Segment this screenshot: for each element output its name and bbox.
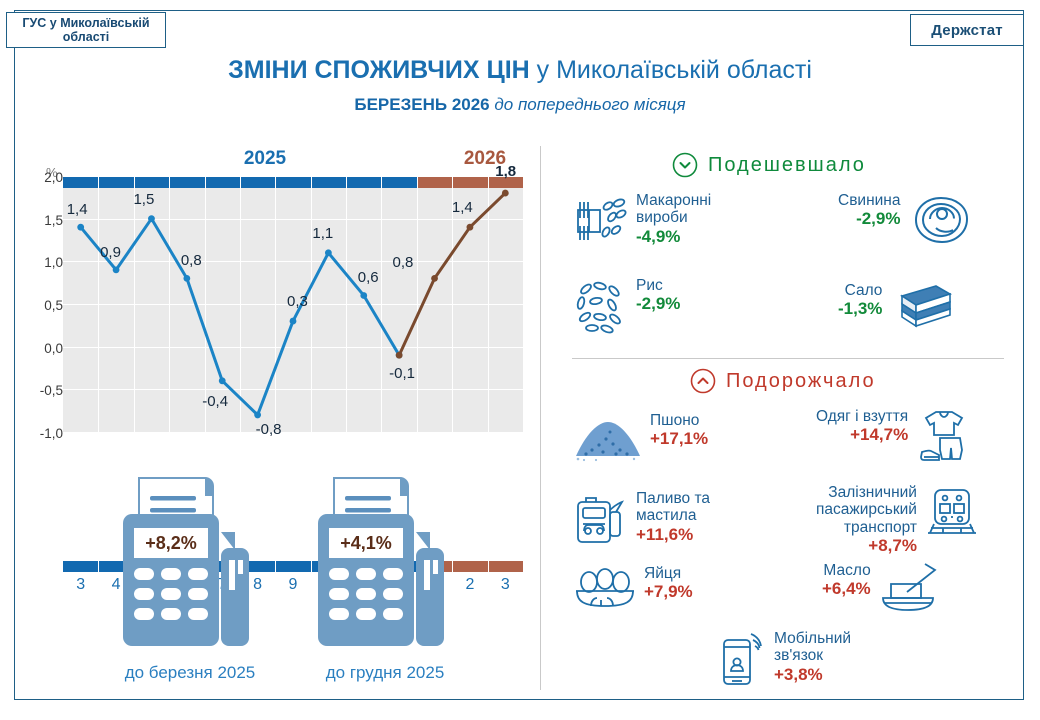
y-tick-label: 0,0 xyxy=(23,341,63,356)
data-point-label: 1,5 xyxy=(133,191,154,208)
product-name: Паливо тамастила xyxy=(636,490,710,524)
product-item: Рис-2,9% xyxy=(572,277,680,340)
subtitle-comparison: до попереднього місяця xyxy=(490,95,686,114)
y-axis-ticks: 2,01,51,00,50,0-0,5-1,0 xyxy=(20,170,63,438)
product-name: Пшоно xyxy=(650,412,699,429)
product-item: Мобільнийзв'язок+3,8% xyxy=(718,630,851,693)
product-name: Макароннівироби xyxy=(636,192,711,226)
product-change-value: -2,9% xyxy=(636,294,680,313)
chart-data-point xyxy=(219,377,226,384)
product-change-value: -1,3% xyxy=(838,299,882,318)
product-change-value: +7,9% xyxy=(644,582,693,601)
data-point-label: 1,8 xyxy=(495,163,516,180)
y-tick-label: -0,5 xyxy=(23,383,63,398)
product-change-value: -2,9% xyxy=(838,209,900,228)
decreased-heading-text: Подешевшало xyxy=(708,154,866,177)
chart-data-point xyxy=(396,352,403,359)
product-change-value: +8,7% xyxy=(816,536,917,555)
page-title: ЗМІНИ СПОЖИВЧИХ ЦІН у Миколаївській обла… xyxy=(120,56,920,85)
chart-line-2025 xyxy=(81,219,399,415)
data-point-label: 1,1 xyxy=(312,225,333,242)
product-change-value: +17,1% xyxy=(650,429,708,448)
chevron-down-circle-icon xyxy=(672,152,698,178)
product-text-block: Свинина-2,9% xyxy=(838,192,900,228)
chart-line-2026 xyxy=(399,193,505,355)
pos-terminal-caption: до березня 2025 xyxy=(95,663,285,683)
product-text-block: Одяг і взуття+14,7% xyxy=(816,408,908,444)
data-point-label: -0,8 xyxy=(256,421,282,438)
chart-data-point xyxy=(113,266,120,273)
x-tick-label: 3 xyxy=(64,576,98,594)
data-point-label: 0,8 xyxy=(393,254,414,271)
y-tick-label: 1,5 xyxy=(23,213,63,228)
y-tick-label: -1,0 xyxy=(23,426,63,441)
chart-data-point xyxy=(431,275,438,282)
chart-data-point xyxy=(467,224,474,231)
title-light-part: у Миколаївській області xyxy=(530,56,812,84)
millet-pile-icon xyxy=(572,412,644,467)
pos-terminal-icon xyxy=(290,470,460,648)
data-point-label: 1,4 xyxy=(67,201,88,218)
clothes-shoes-icon xyxy=(914,408,974,469)
product-name: Яйця xyxy=(644,565,681,582)
pasta-icon xyxy=(572,192,630,255)
product-name: Масло xyxy=(823,562,870,579)
y-tick-label: 1,0 xyxy=(23,255,63,270)
data-point-label: 1,4 xyxy=(452,199,473,216)
product-name: Залізничнийпасажирськийтранспорт xyxy=(816,484,917,536)
title-bold-part: ЗМІНИ СПОЖИВЧИХ ЦІН xyxy=(228,56,530,84)
fuel-canister-icon xyxy=(572,490,630,553)
increased-heading-text: Подорожчало xyxy=(726,370,876,393)
product-item: Пшоно+17,1% xyxy=(572,412,708,467)
chart-data-point xyxy=(290,318,297,325)
mobile-phone-signal-icon xyxy=(718,630,768,693)
product-name: Сало xyxy=(845,282,883,299)
grid-line-horizontal xyxy=(63,432,523,433)
vertical-divider xyxy=(540,146,541,690)
product-item: Свинина-2,9% xyxy=(838,192,970,253)
product-text-block: Сало-1,3% xyxy=(838,282,882,318)
data-point-label: 0,6 xyxy=(358,269,379,286)
regional-office-badge: ГУС у Миколаївській області xyxy=(6,12,166,48)
page-subtitle: БЕРЕЗЕНЬ 2026 до попереднього місяця xyxy=(120,95,920,115)
product-item: Масло+6,4% xyxy=(822,562,939,619)
section-heading-decreased: Подешевшало xyxy=(672,152,866,178)
lard-slab-icon xyxy=(888,282,954,335)
chart-data-point xyxy=(360,292,367,299)
train-icon xyxy=(923,484,981,547)
product-change-value: +14,7% xyxy=(816,425,908,444)
product-text-block: Рис-2,9% xyxy=(636,277,680,313)
product-text-block: Масло+6,4% xyxy=(822,562,871,598)
product-item: Макароннівироби-4,9% xyxy=(572,192,711,255)
data-point-label: 0,9 xyxy=(100,244,121,261)
product-text-block: Пшоно+17,1% xyxy=(650,412,708,448)
product-text-block: Яйця+7,9% xyxy=(644,565,693,601)
chart-data-point xyxy=(254,412,261,419)
horizontal-divider xyxy=(572,358,1004,359)
pos-terminal-cards: +8,2%до березня 2025 +4,1%до грудня 2025 xyxy=(95,470,525,685)
product-change-value: +11,6% xyxy=(636,525,710,544)
product-name: Одяг і взуття xyxy=(816,408,908,425)
chart-data-point xyxy=(183,275,190,282)
data-point-label: 0,3 xyxy=(287,293,308,310)
chart-data-point xyxy=(502,190,509,197)
chevron-up-circle-icon xyxy=(690,368,716,394)
rice-grains-icon xyxy=(572,277,630,340)
chart-data-point xyxy=(77,224,84,231)
egg-carton-icon xyxy=(572,565,638,616)
product-text-block: Залізничнийпасажирськийтранспорт+8,7% xyxy=(816,484,917,555)
product-item: Одяг і взуття+14,7% xyxy=(816,408,974,469)
chart-data-point xyxy=(325,249,332,256)
product-name: Свинина xyxy=(838,192,900,209)
y-tick-label: 2,0 xyxy=(23,170,63,185)
product-change-value: +3,8% xyxy=(774,665,851,684)
product-item: Сало-1,3% xyxy=(838,282,954,335)
product-name: Мобільнийзв'язок xyxy=(774,630,851,664)
product-change-value: +6,4% xyxy=(822,579,871,598)
data-point-label: -0,4 xyxy=(202,393,228,410)
pos-terminal-card: +8,2%до березня 2025 xyxy=(95,470,285,685)
data-point-label: -0,1 xyxy=(389,365,415,382)
subtitle-period: БЕРЕЗЕНЬ 2026 xyxy=(354,95,489,114)
product-item: Залізничнийпасажирськийтранспорт+8,7% xyxy=(816,484,981,555)
pos-terminal-value: +8,2% xyxy=(139,533,203,554)
product-text-block: Мобільнийзв'язок+3,8% xyxy=(774,630,851,684)
section-heading-increased: Подорожчало xyxy=(690,368,876,394)
product-text-block: Макароннівироби-4,9% xyxy=(636,192,711,246)
pos-terminal-caption: до грудня 2025 xyxy=(290,663,480,683)
chart-year-label-2025: 2025 xyxy=(225,148,305,170)
price-change-chart: 2025 2026 % 2,01,51,00,50,0-0,5-1,0 3456… xyxy=(20,146,535,456)
product-change-value: -4,9% xyxy=(636,227,711,246)
product-name: Рис xyxy=(636,277,663,294)
derzhstat-logo-badge: Держстат xyxy=(910,14,1024,46)
butter-dish-icon xyxy=(877,562,939,619)
chart-data-point xyxy=(148,215,155,222)
product-item: Паливо тамастила+11,6% xyxy=(572,490,710,553)
data-point-label: 0,8 xyxy=(181,252,202,269)
pos-terminal-card: +4,1%до грудня 2025 xyxy=(290,470,480,685)
product-text-block: Паливо тамастила+11,6% xyxy=(636,490,710,544)
pork-steak-icon xyxy=(906,192,970,253)
product-item: Яйця+7,9% xyxy=(572,565,693,616)
y-tick-label: 0,5 xyxy=(23,298,63,313)
pos-terminal-value: +4,1% xyxy=(334,533,398,554)
pos-terminal-icon xyxy=(95,470,265,648)
